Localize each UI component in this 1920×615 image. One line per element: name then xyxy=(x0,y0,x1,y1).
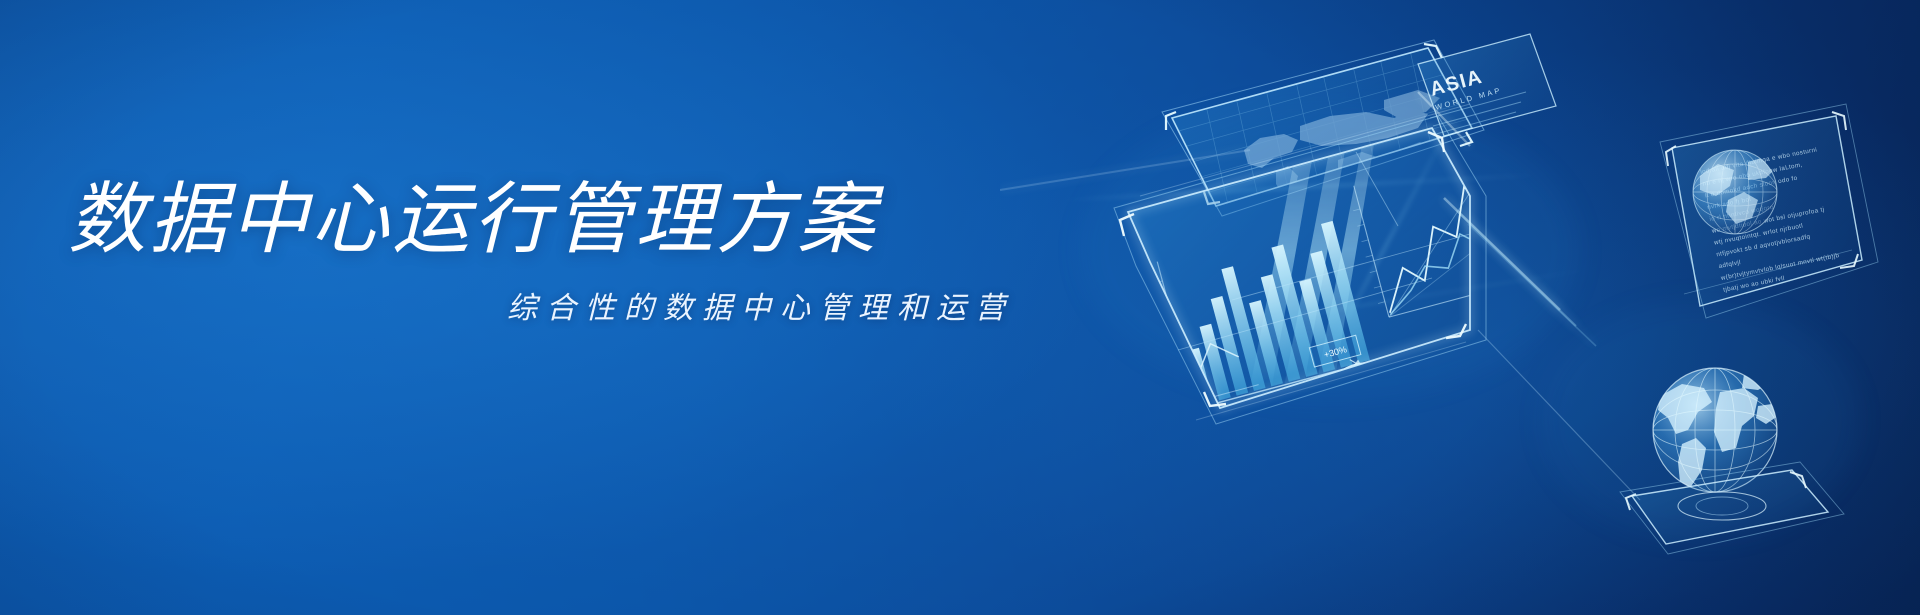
page-title: 数据中心运行管理方案 xyxy=(68,178,1028,261)
hero-banner: ASIA WORLD MAP xyxy=(0,0,1920,615)
metric-bottom-value: 25% xyxy=(1362,426,1382,440)
metric-left-value: +150% xyxy=(1303,413,1333,430)
headline-block: 数据中心运行管理方案 综合性的数据中心管理和运营 xyxy=(68,178,1028,327)
hud-artwork: ASIA WORLD MAP xyxy=(1000,0,1920,615)
page-subtitle: 综合性的数据中心管理和运营 xyxy=(68,283,1028,327)
globe-small xyxy=(1693,150,1778,234)
